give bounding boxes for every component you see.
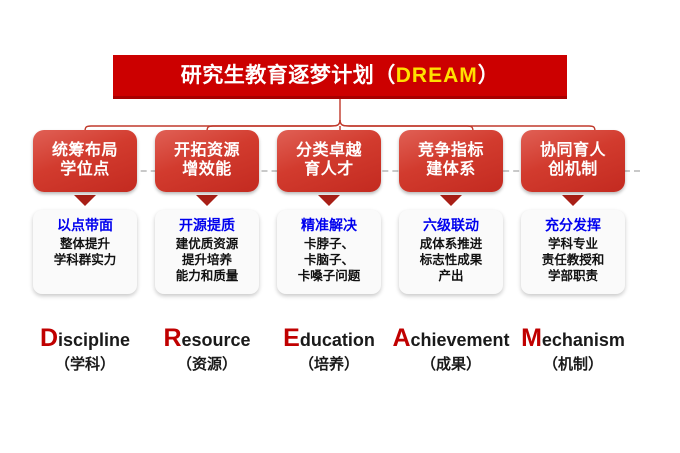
arrow-down-icon xyxy=(440,195,462,206)
arrow-down-icon xyxy=(74,195,96,206)
pillar-header-line2: 学位点 xyxy=(60,161,110,180)
pillar-column-resource: 开拓资源 增效能 开源提质 建优质资源 提升培养 能力和质量 xyxy=(155,130,259,294)
pillar-card-discipline[interactable]: 以点带面 整体提升 学科群实力 xyxy=(33,210,137,294)
pillar-card-mechanism[interactable]: 充分发挥 学科专业 责任教授和 学部职责 xyxy=(521,210,625,294)
pillar-card-achievement[interactable]: 六级联动 成体系推进 标志性成果 产出 xyxy=(399,210,503,294)
card-line: 能力和质量 xyxy=(157,268,257,284)
card-line: 产出 xyxy=(401,268,501,284)
card-line: 提升培养 xyxy=(157,252,257,268)
acronym-capital: M xyxy=(521,324,542,352)
arrow-down-icon xyxy=(196,195,218,206)
card-line: 卡脑子、 xyxy=(279,252,379,268)
pillar-header-line1: 开拓资源 xyxy=(174,142,240,161)
card-line: 学科专业 xyxy=(523,236,623,252)
pillar-column-mechanism: 协同育人 创机制 充分发挥 学科专业 责任教授和 学部职责 xyxy=(521,130,625,294)
card-line: 责任教授和 xyxy=(523,252,623,268)
pillar-card-resource[interactable]: 开源提质 建优质资源 提升培养 能力和质量 xyxy=(155,210,259,294)
pillar-header-line2: 育人才 xyxy=(304,161,354,180)
program-title-main: 研究生教育逐梦计划（ xyxy=(181,64,396,87)
pillar-header-mechanism[interactable]: 协同育人 创机制 xyxy=(521,130,625,192)
pillar-header-resource[interactable]: 开拓资源 增效能 xyxy=(155,130,259,192)
pillar-column-education: 分类卓越 育人才 精准解决 卡脖子、 卡脑子、 卡嗓子问题 xyxy=(277,130,381,294)
card-line: 成体系推进 xyxy=(401,236,501,252)
diagram-canvas: 研究生教育逐梦计划（DREAM） 统筹布局 学位点 以点带面 xyxy=(0,0,680,453)
card-line: 学科群实力 xyxy=(35,252,135,268)
acronym-capital: R xyxy=(163,324,181,352)
card-line: 卡脖子、 xyxy=(279,236,379,252)
acronym-rest: chievement xyxy=(411,330,510,350)
program-title-acronym: DREAM xyxy=(396,64,478,87)
pillar-header-discipline[interactable]: 统筹布局 学位点 xyxy=(33,130,137,192)
pillar-header-line1: 统筹布局 xyxy=(52,142,118,161)
pillar-header-line1: 协同育人 xyxy=(540,142,606,161)
acronym-word: Mechanism xyxy=(498,325,648,353)
card-line: 标志性成果 xyxy=(401,252,501,268)
pillar-header-line2: 创机制 xyxy=(548,161,598,180)
card-heading: 充分发挥 xyxy=(523,217,623,234)
acronym-rest: iscipline xyxy=(58,330,130,350)
pillar-header-line2: 增效能 xyxy=(182,161,232,180)
acronym-mechanism: Mechanism （机制） xyxy=(498,325,648,373)
program-title-tail: ） xyxy=(478,64,500,87)
card-line: 建优质资源 xyxy=(157,236,257,252)
acronym-translation: （机制） xyxy=(498,357,648,374)
acronym-capital: E xyxy=(283,324,300,352)
pillar-header-education[interactable]: 分类卓越 育人才 xyxy=(277,130,381,192)
pillar-header-line2: 建体系 xyxy=(426,161,476,180)
program-title-text: 研究生教育逐梦计划（DREAM） xyxy=(181,65,500,86)
card-heading: 开源提质 xyxy=(157,217,257,234)
acronym-rest: esource xyxy=(182,330,251,350)
card-line: 卡嗓子问题 xyxy=(279,268,379,284)
acronym-capital: D xyxy=(40,324,58,352)
acronym-rest: ducation xyxy=(300,330,375,350)
arrow-down-icon xyxy=(318,195,340,206)
card-heading: 精准解决 xyxy=(279,217,379,234)
program-title-banner: 研究生教育逐梦计划（DREAM） xyxy=(113,55,567,99)
pillar-header-line1: 竞争指标 xyxy=(418,142,484,161)
pillar-column-discipline: 统筹布局 学位点 以点带面 整体提升 学科群实力 xyxy=(33,130,137,294)
acronym-capital: A xyxy=(392,324,410,352)
pillar-column-achievement: 竞争指标 建体系 六级联动 成体系推进 标志性成果 产出 xyxy=(399,130,503,294)
pillar-card-education[interactable]: 精准解决 卡脖子、 卡脑子、 卡嗓子问题 xyxy=(277,210,381,294)
pillar-header-achievement[interactable]: 竞争指标 建体系 xyxy=(399,130,503,192)
card-line: 整体提升 xyxy=(35,236,135,252)
card-heading: 以点带面 xyxy=(35,217,135,234)
arrow-down-icon xyxy=(562,195,584,206)
acronym-rest: echanism xyxy=(542,330,625,350)
card-line: 学部职责 xyxy=(523,268,623,284)
pillar-header-line1: 分类卓越 xyxy=(296,142,362,161)
card-heading: 六级联动 xyxy=(401,217,501,234)
